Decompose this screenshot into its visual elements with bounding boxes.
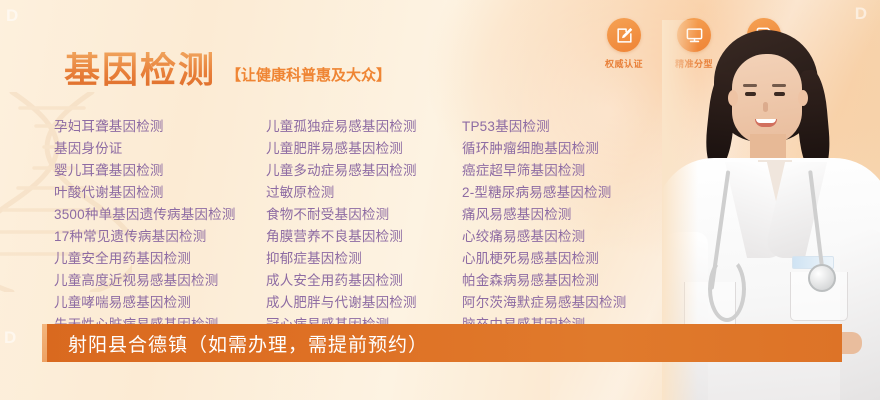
- badge-label: 权威认证: [605, 57, 643, 70]
- list-item[interactable]: 儿童多动症易感基因检测: [266, 160, 462, 182]
- list-item[interactable]: 角膜营养不良基因检测: [266, 226, 462, 248]
- list-item[interactable]: 成人安全用药基因检测: [266, 270, 462, 292]
- badge-authority-certification[interactable]: 权威认证: [600, 18, 648, 70]
- list-item[interactable]: 17种常见遗传病基因检测: [54, 226, 266, 248]
- list-item[interactable]: 叶酸代谢基因检测: [54, 182, 266, 204]
- watermark-top-left: D: [6, 6, 21, 26]
- poster-root: D D D 基因检测 【让健康科普惠及大众】 权威认证: [0, 0, 880, 400]
- edit-pen-icon: [607, 18, 641, 52]
- doctor-ear-right: [798, 90, 808, 106]
- banner-accent-bar: [42, 324, 47, 362]
- doctor-eye-left: [745, 92, 756, 96]
- doctor-eyebrow-left: [743, 84, 757, 87]
- watermark-bottom-left: D: [4, 328, 19, 348]
- doctor-nose: [763, 102, 768, 112]
- location-banner[interactable]: 射阳县合德镇（如需办理，需提前预约）: [42, 324, 842, 362]
- page-subtitle: 【让健康科普惠及大众】: [226, 64, 391, 85]
- doctor-face: [732, 54, 802, 144]
- list-item[interactable]: 儿童肥胖易感基因检测: [266, 138, 462, 160]
- list-item[interactable]: 婴儿耳聋基因检测: [54, 160, 266, 182]
- list-item[interactable]: 儿童哮喘易感基因检测: [54, 292, 266, 314]
- list-item[interactable]: 儿童孤独症易感基因检测: [266, 116, 462, 138]
- stethoscope-chestpiece-icon: [808, 264, 836, 292]
- list-item[interactable]: 儿童高度近视易感基因检测: [54, 270, 266, 292]
- page-title: 基因检测: [64, 52, 216, 88]
- list-item[interactable]: 3500种单基因遗传病基因检测: [54, 204, 266, 226]
- list-item[interactable]: 儿童安全用药基因检测: [54, 248, 266, 270]
- list-item[interactable]: 基因身份证: [54, 138, 266, 160]
- doctor-eye-right: [774, 92, 785, 96]
- stethoscope-loop: [708, 256, 746, 322]
- doctor-teeth: [756, 119, 776, 123]
- banner-text: 射阳县合德镇（如需办理，需提前预约）: [68, 330, 428, 357]
- list-item[interactable]: 过敏原检测: [266, 182, 462, 204]
- list-item[interactable]: 孕妇耳聋基因检测: [54, 116, 266, 138]
- list-item[interactable]: 食物不耐受基因检测: [266, 204, 462, 226]
- doctor-eyebrow-right: [772, 84, 786, 87]
- doctor-ear-left: [728, 90, 738, 106]
- service-list: 孕妇耳聋基因检测 基因身份证 婴儿耳聋基因检测 叶酸代谢基因检测 3500种单基…: [54, 116, 714, 336]
- list-item[interactable]: 抑郁症基因检测: [266, 248, 462, 270]
- service-column-2: 儿童孤独症易感基因检测 儿童肥胖易感基因检测 儿童多动症易感基因检测 过敏原检测…: [266, 116, 462, 336]
- service-column-1: 孕妇耳聋基因检测 基因身份证 婴儿耳聋基因检测 叶酸代谢基因检测 3500种单基…: [54, 116, 266, 336]
- list-item[interactable]: 成人肥胖与代谢基因检测: [266, 292, 462, 314]
- title-block: 基因检测 【让健康科普惠及大众】: [64, 52, 391, 88]
